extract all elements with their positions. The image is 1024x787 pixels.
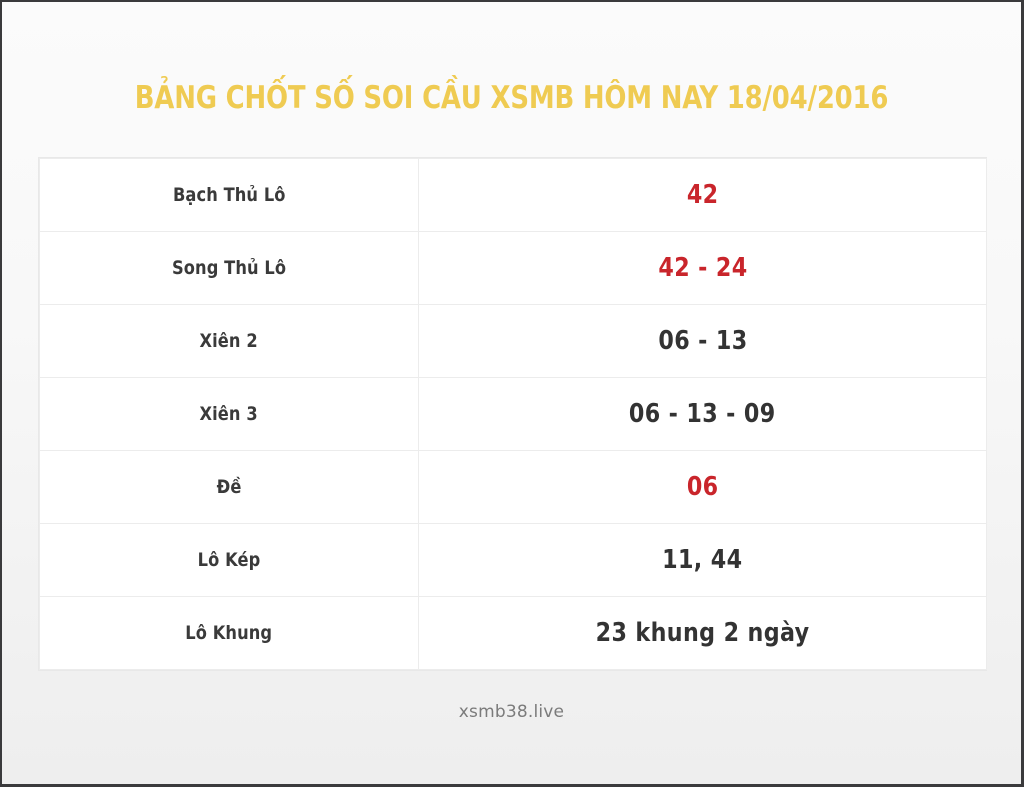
row-value-cell: 23 khung 2 ngày [419, 597, 987, 670]
row-label: Lô Khung [186, 622, 273, 644]
row-label: Xiên 2 [200, 330, 258, 352]
row-value-cell: 42 [419, 159, 987, 232]
row-label: Xiên 3 [200, 403, 258, 425]
row-label-cell: Song Thủ Lô [40, 232, 419, 305]
row-label: Bạch Thủ Lô [173, 184, 286, 206]
row-value: 42 [687, 180, 719, 210]
row-label-cell: Xiên 2 [40, 305, 419, 378]
row-value: 11, 44 [662, 545, 742, 575]
row-value: 42 - 24 [658, 253, 747, 283]
row-value-cell: 06 [419, 451, 987, 524]
row-label-cell: Bạch Thủ Lô [40, 159, 419, 232]
row-label-cell: Lô Khung [40, 597, 419, 670]
table-row: Đề 06 [40, 451, 987, 524]
row-label: Song Thủ Lô [172, 257, 286, 279]
row-label-cell: Đề [40, 451, 419, 524]
row-label: Lô Kép [198, 549, 261, 571]
row-label-cell: Xiên 3 [40, 378, 419, 451]
table-row: Lô Khung 23 khung 2 ngày [40, 597, 987, 670]
table-row: Song Thủ Lô 42 - 24 [40, 232, 987, 305]
table-row: Lô Kép 11, 44 [40, 524, 987, 597]
row-value: 06 [687, 472, 719, 502]
row-value: 06 - 13 - 09 [629, 399, 776, 429]
row-value-cell: 42 - 24 [419, 232, 987, 305]
page-canvas: BẢNG CHỐT SỐ SOI CẦU XSMB HÔM NAY 18/04/… [2, 2, 1021, 784]
row-value: 06 - 13 [658, 326, 747, 356]
table-row: Xiên 3 06 - 13 - 09 [40, 378, 987, 451]
row-value-cell: 06 - 13 - 09 [419, 378, 987, 451]
row-label-cell: Lô Kép [40, 524, 419, 597]
row-value-cell: 11, 44 [419, 524, 987, 597]
table-row: Bạch Thủ Lô 42 [40, 159, 987, 232]
table-row: Xiên 2 06 - 13 [40, 305, 987, 378]
row-label: Đề [217, 476, 242, 498]
prediction-table: Bạch Thủ Lô 42 Song Thủ Lô 42 - 24 [38, 157, 987, 671]
row-value: 23 khung 2 ngày [596, 618, 810, 648]
site-watermark: xsmb38.live [2, 702, 1021, 722]
prediction-table-grid: Bạch Thủ Lô 42 Song Thủ Lô 42 - 24 [39, 158, 987, 670]
page-title: BẢNG CHỐT SỐ SOI CẦU XSMB HÔM NAY 18/04/… [38, 80, 986, 116]
prediction-table-body: Bạch Thủ Lô 42 Song Thủ Lô 42 - 24 [40, 159, 987, 670]
row-value-cell: 06 - 13 [419, 305, 987, 378]
